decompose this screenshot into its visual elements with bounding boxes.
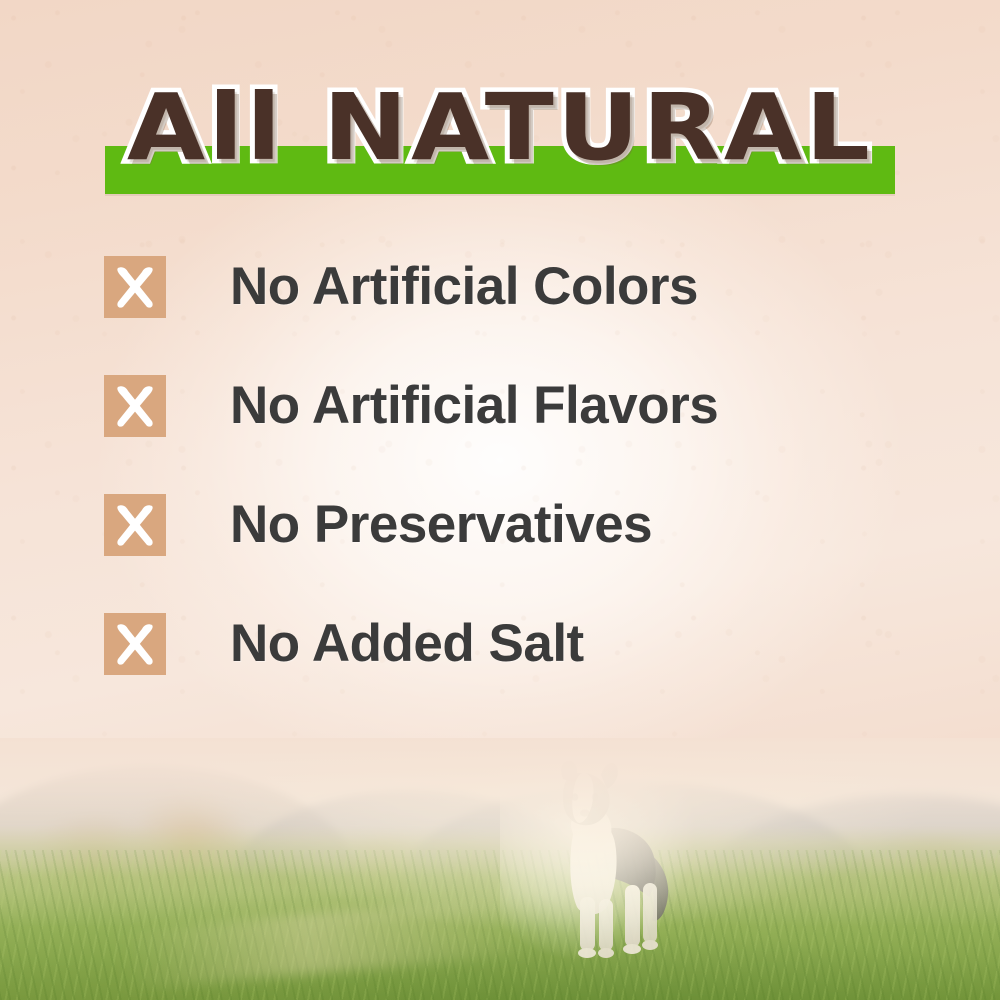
list-item: No Artificial Colors — [104, 256, 934, 318]
list-item-label: No Preservatives — [230, 494, 652, 556]
list-item-label: No Added Salt — [230, 613, 584, 675]
x-mark-icon — [104, 375, 166, 437]
page-title: All NATURAL — [0, 78, 1000, 178]
list-item-label: No Artificial Flavors — [230, 375, 718, 437]
x-mark-icon — [104, 256, 166, 318]
list-item: No Preservatives — [104, 494, 934, 556]
x-mark-icon — [104, 613, 166, 675]
all-natural-product-infographic: All NATURAL No Artificial Colors No Arti… — [0, 0, 1000, 1000]
list-item: No Added Salt — [104, 613, 934, 675]
list-item-label: No Artificial Colors — [230, 256, 698, 318]
x-mark-icon — [104, 494, 166, 556]
banner-header: All NATURAL — [0, 78, 1000, 198]
list-item: No Artificial Flavors — [104, 375, 934, 437]
sunlight-overlay — [0, 738, 1000, 1000]
dog-in-field-photo — [0, 738, 1000, 1000]
claims-list: No Artificial Colors No Artificial Flavo… — [104, 256, 934, 675]
